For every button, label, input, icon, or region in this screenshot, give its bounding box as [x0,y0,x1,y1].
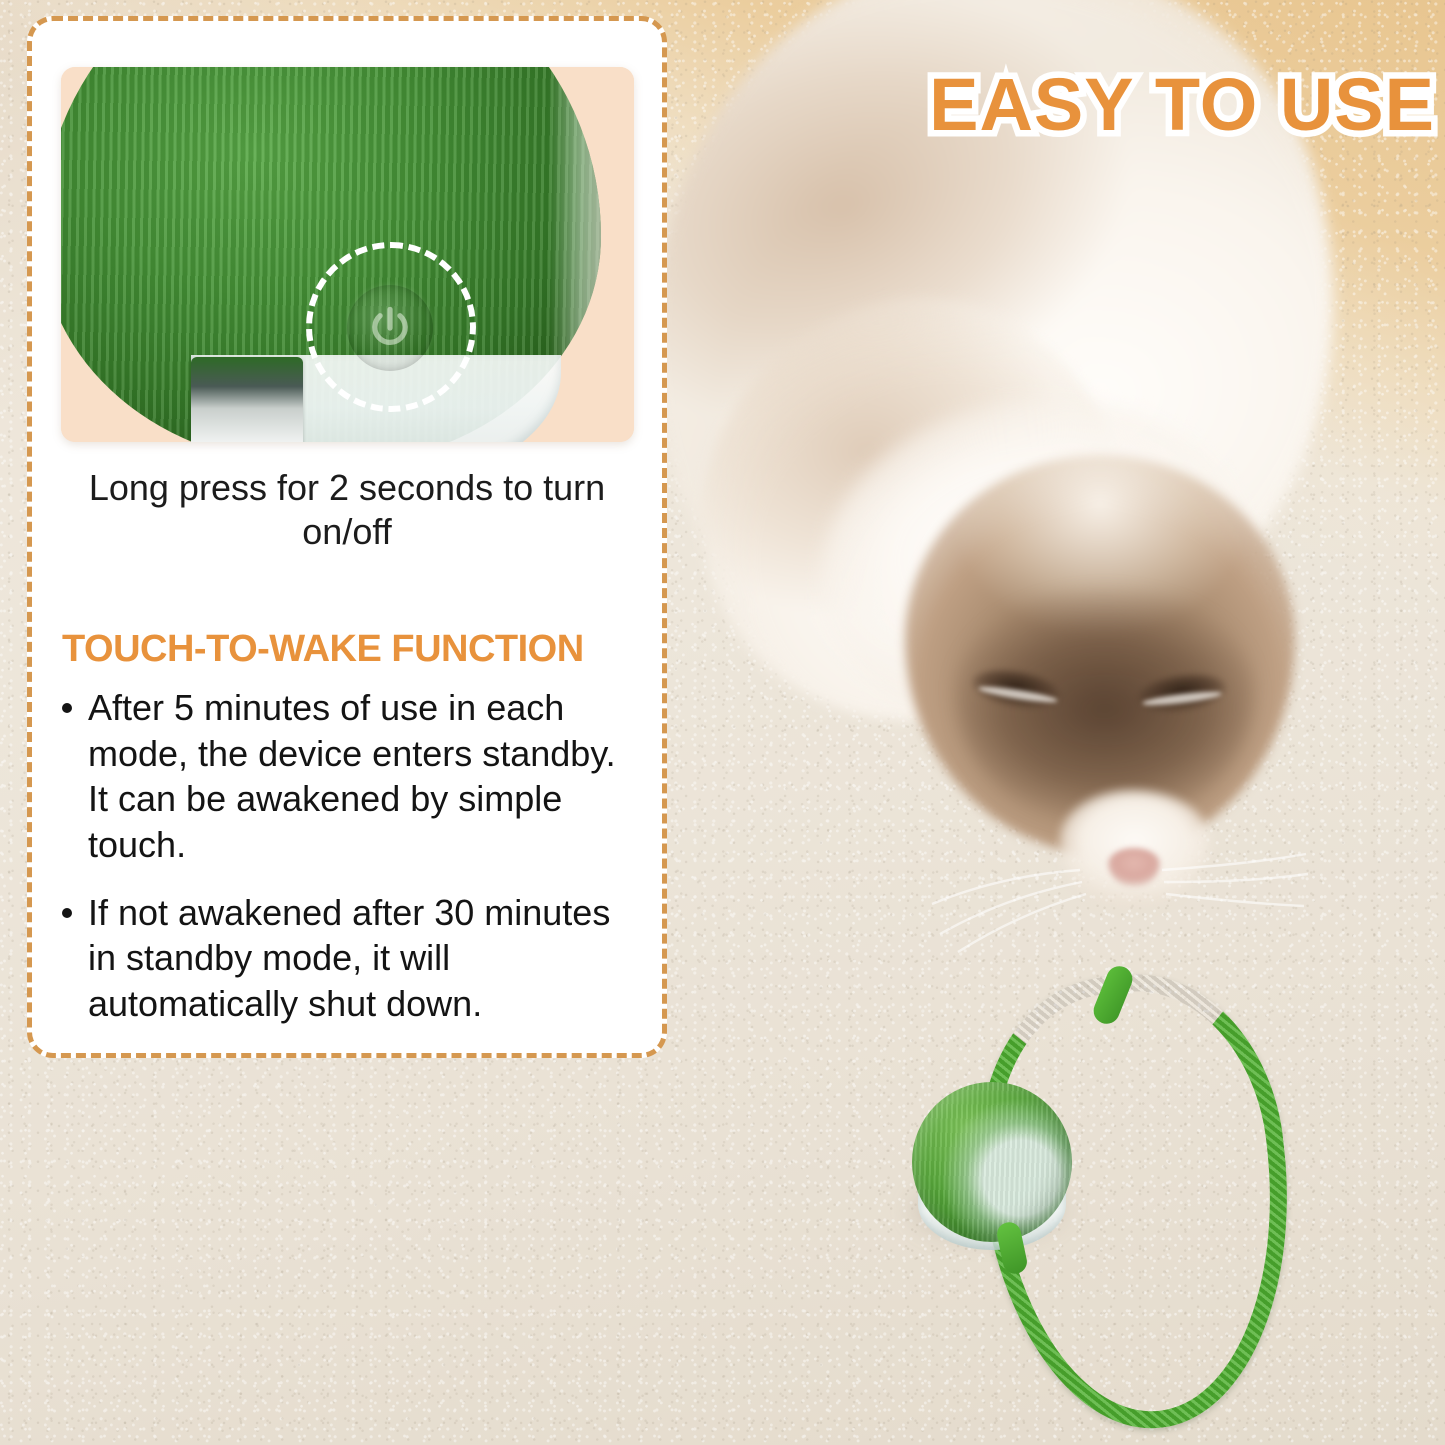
toy-ball [912,1082,1072,1242]
power-button-highlight-circle [306,242,476,412]
bullet-text: After 5 minutes of use in each mode, the… [88,687,616,865]
toy-ball-ribs [912,1082,1072,1242]
list-item: If not awakened after 30 minutes in stan… [58,890,636,1027]
bullet-dot-icon [62,703,72,713]
section-title: TOUCH-TO-WAKE FUNCTION [62,628,636,671]
bullet-text: If not awakened after 30 minutes in stan… [88,892,610,1024]
cat-whiskers [930,800,1310,960]
power-button-inset-figure [61,67,634,442]
info-panel: Long press for 2 seconds to turn on/off … [27,16,667,1058]
bullet-dot-icon [62,908,72,918]
list-item: After 5 minutes of use in each mode, the… [58,685,636,868]
page-title: EASY TO USE [929,62,1435,147]
inset-caption: Long press for 2 seconds to turn on/off [62,466,632,554]
product-base-window [191,357,303,442]
feature-bullet-list: After 5 minutes of use in each mode, the… [58,685,636,1027]
infographic-page: EASY TO USE [0,0,1445,1445]
cat-face-mask [955,590,1255,820]
